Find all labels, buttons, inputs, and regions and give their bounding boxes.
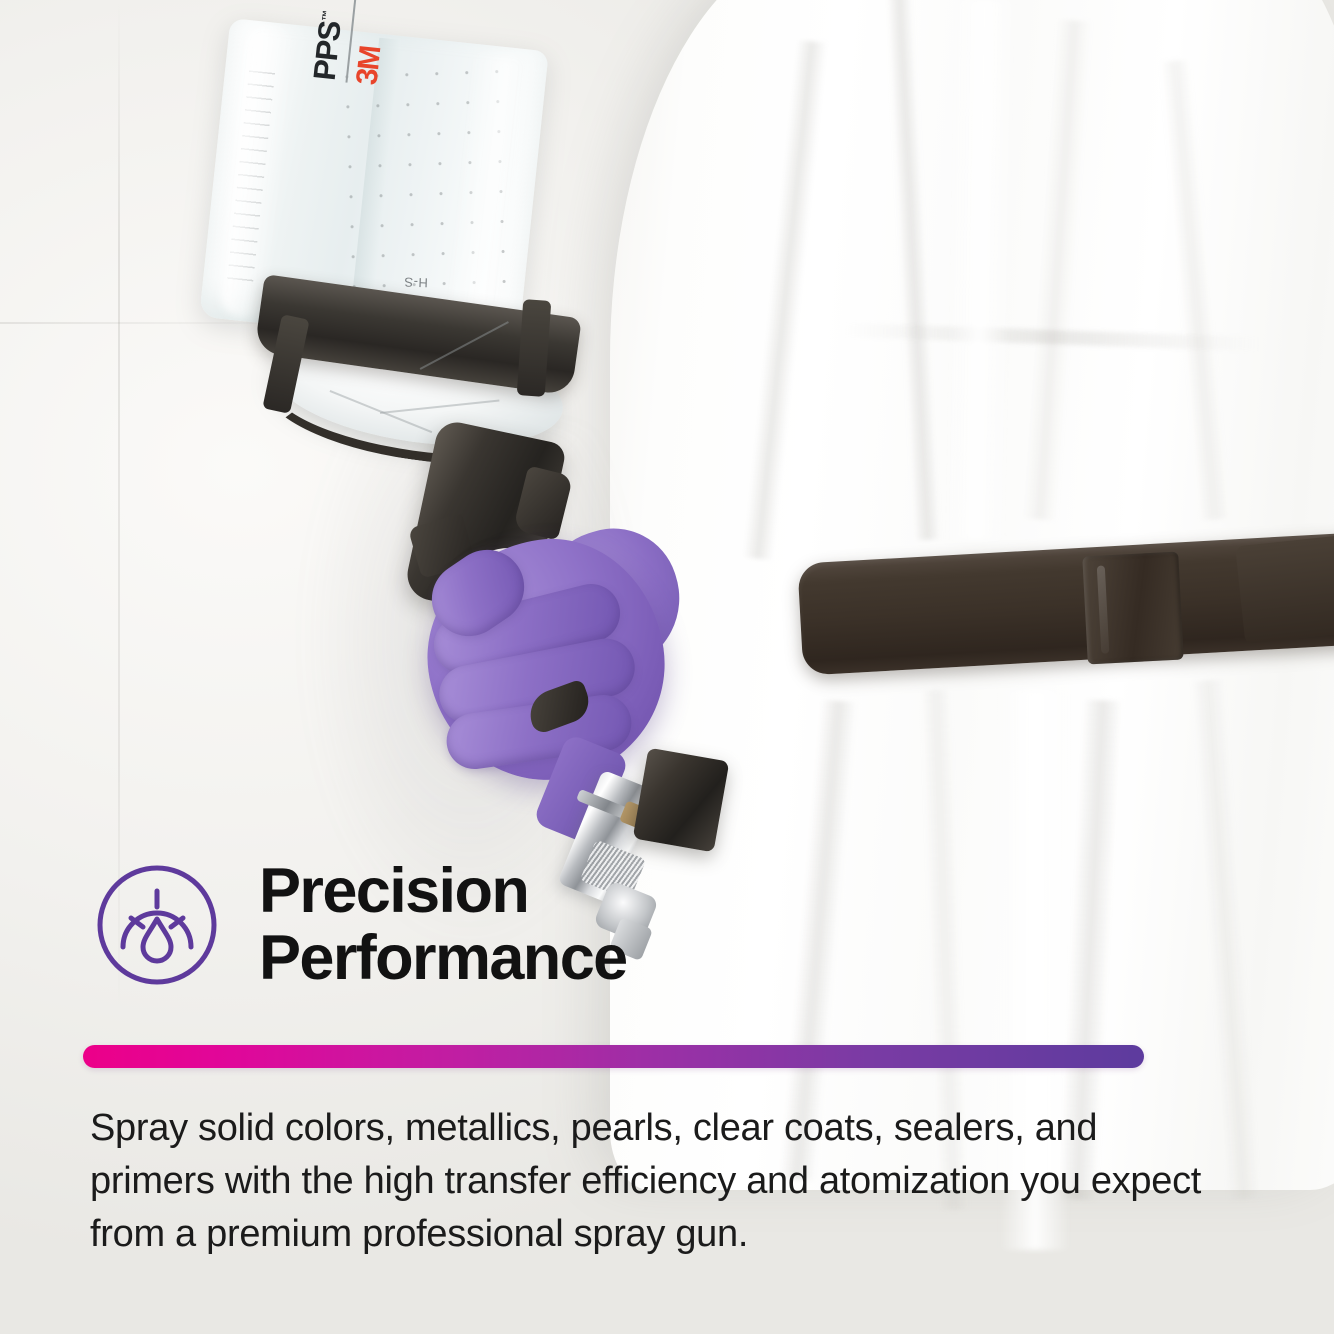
pressure-gauge-droplet-icon <box>93 861 221 989</box>
gradient-divider <box>83 1045 1144 1068</box>
feature-block: Precision Performance Spray solid colors… <box>0 846 1334 1334</box>
cup-branding: PPS™ 3M <box>309 0 392 86</box>
page-title: Precision Performance <box>259 858 627 992</box>
pps-logo-text: PPS™ <box>309 0 349 82</box>
cup-volume-marking: H-S <box>404 275 428 291</box>
trademark-symbol: ™ <box>320 11 333 22</box>
feature-heading-row: Precision Performance <box>93 858 627 992</box>
product-feature-card: PPS™ 3M H-S <box>0 0 1334 1334</box>
pps-wordmark: PPS <box>307 20 348 82</box>
pressure-gauge <box>633 748 730 853</box>
feature-description: Spray solid colors, metallics, pearls, c… <box>90 1102 1220 1262</box>
